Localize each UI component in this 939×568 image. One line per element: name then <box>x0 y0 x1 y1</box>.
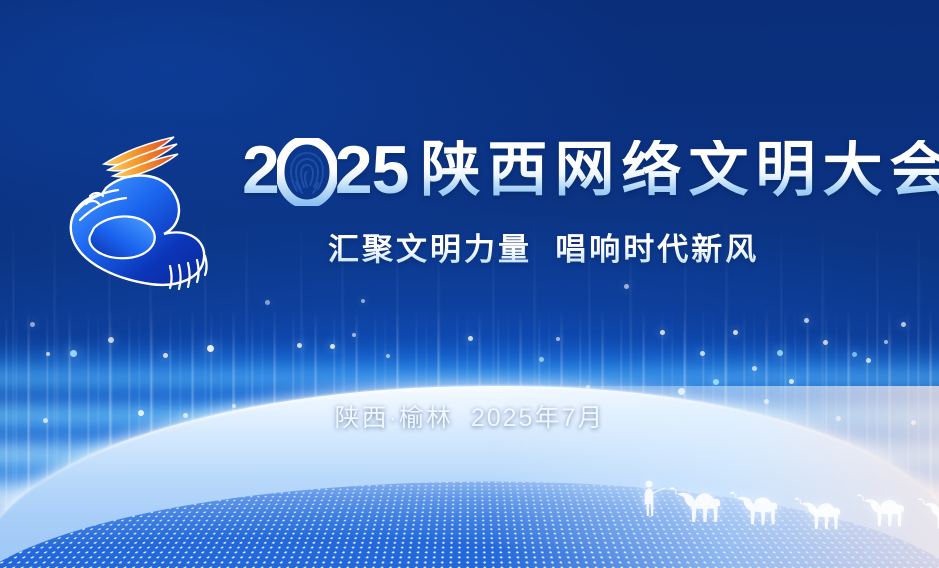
title-lockup: 2 <box>46 108 906 308</box>
light-particle <box>700 351 705 356</box>
light-particle <box>866 358 871 363</box>
light-particle <box>70 350 77 357</box>
camel-caravan-silhouette <box>639 462 939 562</box>
shaanxi-cyber-civilization-emblem <box>46 116 236 306</box>
ribbon-form <box>71 176 207 290</box>
light-particle <box>207 345 214 352</box>
light-particle <box>852 352 857 357</box>
light-particle <box>733 330 738 335</box>
light-particle <box>713 379 719 385</box>
light-particle <box>539 357 544 362</box>
light-particle <box>352 333 356 337</box>
camel <box>794 498 840 529</box>
light-particle <box>386 354 390 358</box>
title-year-25: 25 <box>335 136 409 204</box>
title-main: 陕西网络文明大会 <box>420 140 939 200</box>
camel <box>729 492 777 525</box>
light-particle <box>901 322 906 327</box>
light-particle <box>777 350 783 356</box>
camel <box>917 498 939 529</box>
light-particle <box>46 352 50 356</box>
light-particle <box>468 336 473 341</box>
event-poster: 2 <box>0 0 939 568</box>
title-row: 2 <box>242 136 939 204</box>
light-particle <box>752 366 757 371</box>
title-year-2: 2 <box>242 136 279 204</box>
camel <box>669 487 720 522</box>
event-meta: 陕西·榆林 2025年7月 <box>0 398 939 434</box>
light-particle <box>330 344 335 349</box>
flame-wing-icon <box>104 137 178 177</box>
light-particle <box>884 340 888 344</box>
light-particle <box>823 340 828 345</box>
light-particle <box>297 343 302 348</box>
herder-figure <box>645 481 665 516</box>
camel <box>857 494 904 526</box>
light-particle <box>804 318 809 323</box>
light-particle <box>556 337 560 341</box>
subtitle: 汇聚文明力量 唱响时代新风 <box>328 224 759 269</box>
light-particle <box>789 379 794 384</box>
light-particle <box>660 330 665 335</box>
light-particle <box>30 322 35 327</box>
fingerprint-icon <box>277 138 337 206</box>
light-particle <box>163 353 168 358</box>
light-particle <box>108 337 114 343</box>
